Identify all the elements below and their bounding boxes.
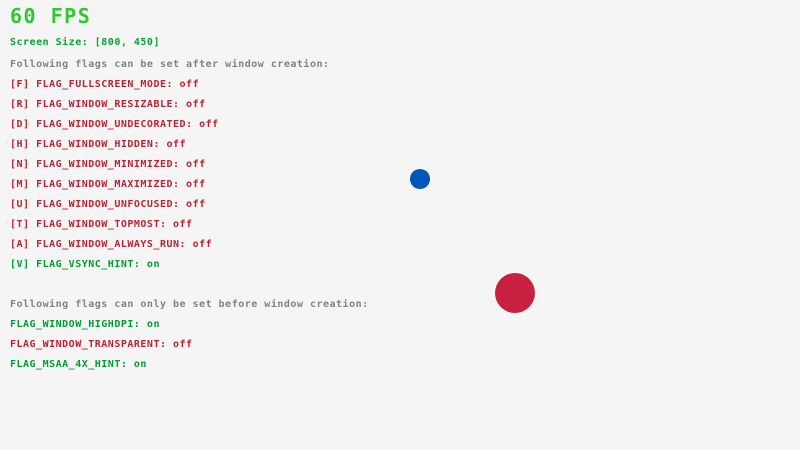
- flags-after-creation-header: Following flags can be set after window …: [10, 60, 330, 70]
- raylib-window-canvas: 60 FPS Screen Size: [800, 450] Following…: [0, 0, 800, 450]
- flag-row-flag-window-resizable[interactable]: [R] FLAG_WINDOW_RESIZABLE: off: [10, 100, 206, 110]
- flag-row-flag-window-maximized[interactable]: [M] FLAG_WINDOW_MAXIMIZED: off: [10, 180, 206, 190]
- flags-before-creation-header: Following flags can only be set before w…: [10, 300, 369, 310]
- red-circle-shape: [495, 273, 535, 313]
- flag-row-flag-window-hidden[interactable]: [H] FLAG_WINDOW_HIDDEN: off: [10, 140, 186, 150]
- flag-row-flag-msaa-4x-hint[interactable]: FLAG_MSAA_4X_HINT: on: [10, 360, 147, 370]
- blue-circle-shape: [410, 169, 430, 189]
- flag-row-flag-window-undecorated[interactable]: [D] FLAG_WINDOW_UNDECORATED: off: [10, 120, 219, 130]
- flag-row-flag-window-always-run[interactable]: [A] FLAG_WINDOW_ALWAYS_RUN: off: [10, 240, 212, 250]
- flag-row-flag-vsync-hint[interactable]: [V] FLAG_VSYNC_HINT: on: [10, 260, 160, 270]
- screen-size-label: Screen Size: [800, 450]: [10, 38, 160, 48]
- fps-counter: 60 FPS: [10, 6, 91, 26]
- flag-row-flag-window-highdpi[interactable]: FLAG_WINDOW_HIGHDPI: on: [10, 320, 160, 330]
- flag-row-flag-window-transparent[interactable]: FLAG_WINDOW_TRANSPARENT: off: [10, 340, 193, 350]
- flag-row-flag-window-unfocused[interactable]: [U] FLAG_WINDOW_UNFOCUSED: off: [10, 200, 206, 210]
- flag-row-flag-window-minimized[interactable]: [N] FLAG_WINDOW_MINIMIZED: off: [10, 160, 206, 170]
- flag-row-flag-fullscreen-mode[interactable]: [F] FLAG_FULLSCREEN_MODE: off: [10, 80, 199, 90]
- flag-row-flag-window-topmost[interactable]: [T] FLAG_WINDOW_TOPMOST: off: [10, 220, 193, 230]
